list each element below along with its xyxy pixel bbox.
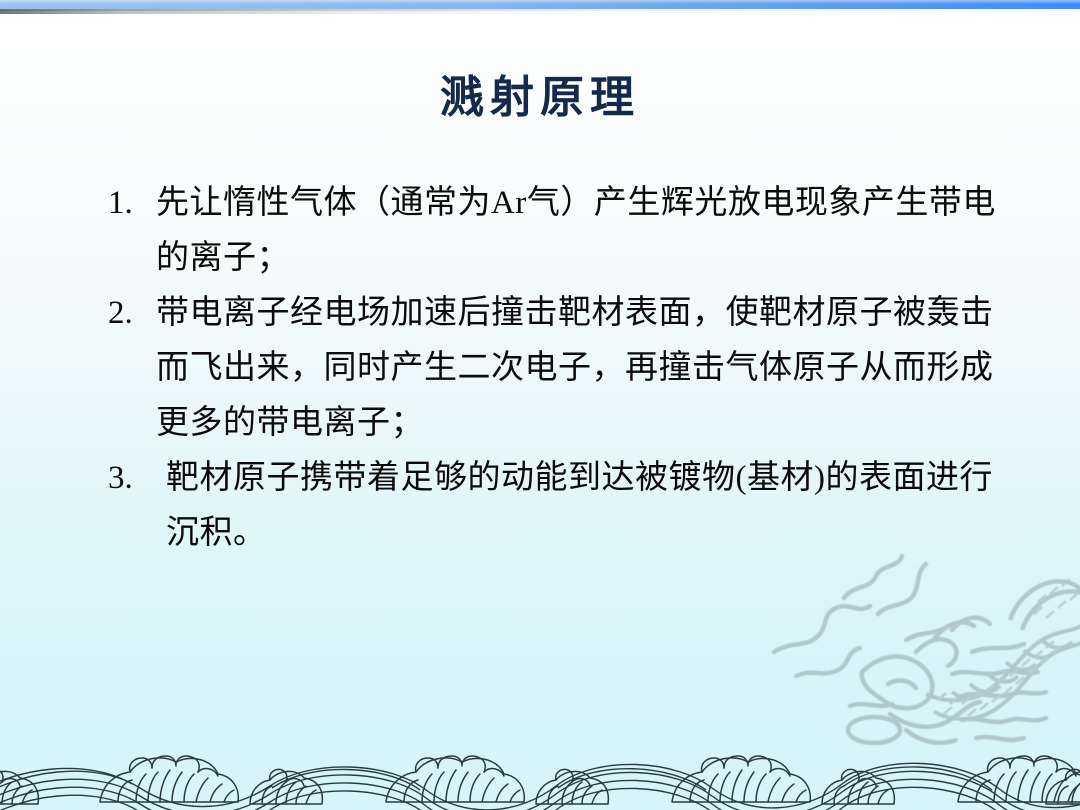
slide-title: 溅射原理 <box>0 72 1080 124</box>
list-item-marker: 2. <box>108 286 156 341</box>
list-item-marker: 3. <box>108 451 156 506</box>
top-bar-shadow <box>0 9 790 14</box>
list-item-text: 带电离子经电场加速后撞击靶材表面，使靶材原子被轰击而飞出来，同时产生二次电子，再… <box>156 286 998 451</box>
top-accent-bar-gloss <box>0 0 1080 4</box>
top-accent-bar <box>0 0 1080 9</box>
list-item: 2. 带电离子经电场加速后撞击靶材表面，使靶材原子被轰击而飞出来，同时产生二次电… <box>108 286 998 451</box>
list-item-text: 靶材原子携带着足够的动能到达被镀物(基材)的表面进行沉积。 <box>156 451 998 561</box>
list-item: 1. 先让惰性气体（通常为Ar气）产生辉光放电现象产生带电的离子； <box>108 176 998 286</box>
list-item: 3. 靶材原子携带着足够的动能到达被镀物(基材)的表面进行沉积。 <box>108 451 998 561</box>
list-item-text: 先让惰性气体（通常为Ar气）产生辉光放电现象产生带电的离子； <box>156 176 998 286</box>
list-item-marker: 1. <box>108 176 156 231</box>
content-list: 1. 先让惰性气体（通常为Ar气）产生辉光放电现象产生带电的离子； 2. 带电离… <box>108 176 998 561</box>
dragon-watermark-icon <box>766 544 1080 774</box>
wave-pattern-decoration <box>0 728 1080 810</box>
slide-canvas: 溅射原理 1. 先让惰性气体（通常为Ar气）产生辉光放电现象产生带电的离子； 2… <box>0 0 1080 810</box>
